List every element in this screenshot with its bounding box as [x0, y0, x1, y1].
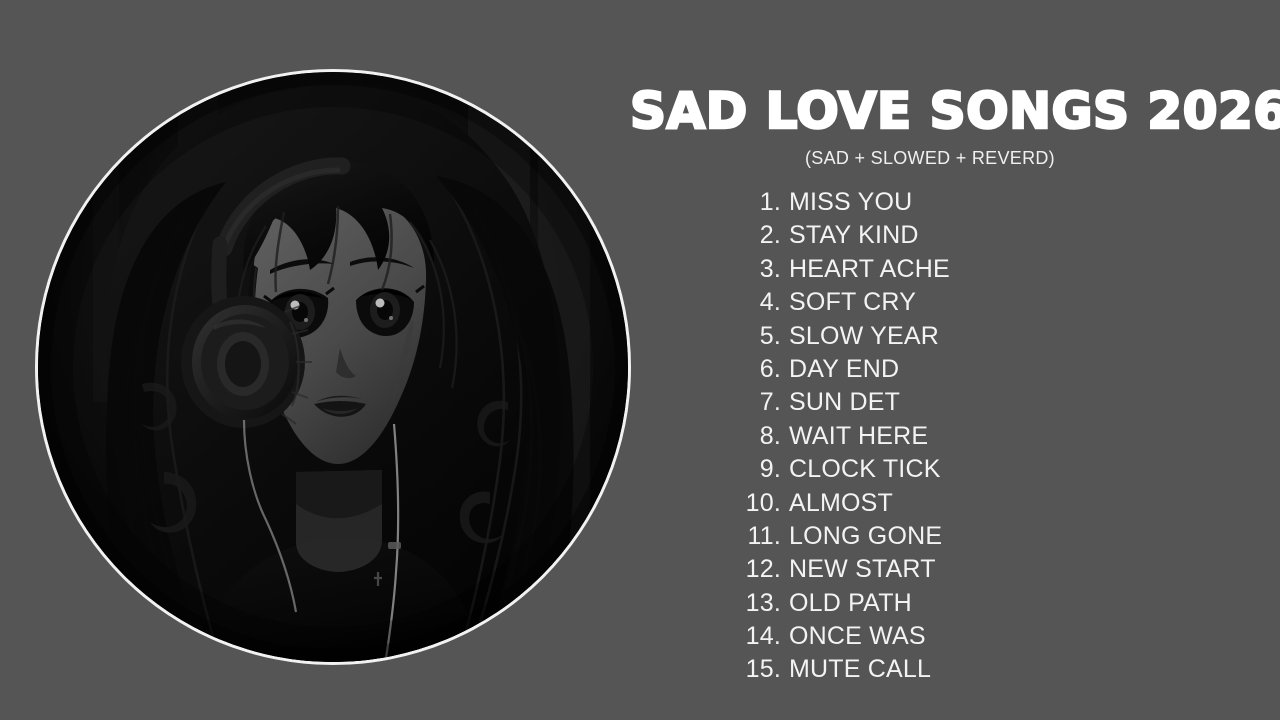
list-item[interactable]: 2. STAY KIND — [630, 219, 1230, 252]
track-number: 4. — [630, 286, 789, 319]
track-number: 8. — [630, 420, 789, 453]
list-item[interactable]: 3. HEART ACHE — [630, 253, 1230, 286]
track-number: 6. — [630, 353, 789, 386]
list-item[interactable]: 13. OLD PATH — [630, 587, 1230, 620]
circular-artwork — [38, 72, 628, 662]
track-title: NEW START — [789, 553, 936, 586]
list-item[interactable]: 4. SOFT CRY — [630, 286, 1230, 319]
list-item[interactable]: 12. NEW START — [630, 553, 1230, 586]
track-title: OLD PATH — [789, 587, 912, 620]
list-item[interactable]: 8. WAIT HERE — [630, 420, 1230, 453]
list-item[interactable]: 9. CLOCK TICK — [630, 453, 1230, 486]
list-item[interactable]: 14. ONCE WAS — [630, 620, 1230, 653]
video-thumbnail-canvas: SAD LOVE SONGS 2026 (SAD + SLOWED + REVE… — [0, 0, 1280, 720]
track-title: ALMOST — [789, 487, 893, 520]
list-item[interactable]: 6. DAY END — [630, 353, 1230, 386]
track-title: ONCE WAS — [789, 620, 926, 653]
track-number: 14. — [630, 620, 789, 653]
page-title: SAD LOVE SONGS 2026 — [630, 86, 1230, 136]
track-title: STAY KIND — [789, 219, 919, 252]
track-number: 10. — [630, 487, 789, 520]
track-title: SOFT CRY — [789, 286, 916, 319]
track-number: 7. — [630, 386, 789, 419]
track-title: LONG GONE — [789, 520, 942, 553]
list-item[interactable]: 7. SUN DET — [630, 386, 1230, 419]
list-item[interactable]: 1. MISS YOU — [630, 186, 1230, 219]
track-number: 1. — [630, 186, 789, 219]
track-number: 5. — [630, 320, 789, 353]
track-title: SLOW YEAR — [789, 320, 939, 353]
list-item[interactable]: 11. LONG GONE — [630, 520, 1230, 553]
tracklist-panel: SAD LOVE SONGS 2026 (SAD + SLOWED + REVE… — [630, 0, 1280, 720]
list-item[interactable]: 15. MUTE CALL — [630, 653, 1230, 686]
track-title: WAIT HERE — [789, 420, 928, 453]
track-number: 9. — [630, 453, 789, 486]
track-number: 12. — [630, 553, 789, 586]
track-title: CLOCK TICK — [789, 453, 941, 486]
list-item[interactable]: 5. SLOW YEAR — [630, 320, 1230, 353]
track-title: DAY END — [789, 353, 899, 386]
track-title: SUN DET — [789, 386, 900, 419]
anime-girl-headphones-artwork — [38, 72, 628, 662]
track-number: 13. — [630, 587, 789, 620]
track-number: 11. — [630, 520, 789, 553]
track-number: 15. — [630, 653, 789, 686]
list-item[interactable]: 10. ALMOST — [630, 487, 1230, 520]
track-title: MUTE CALL — [789, 653, 931, 686]
tracklist: 1. MISS YOU 2. STAY KIND 3. HEART ACHE 4… — [630, 186, 1230, 687]
page-subtitle: (SAD + SLOWED + REVERD) — [630, 146, 1230, 171]
track-title: MISS YOU — [789, 186, 912, 219]
track-number: 3. — [630, 253, 789, 286]
track-title: HEART ACHE — [789, 253, 950, 286]
track-number: 2. — [630, 219, 789, 252]
